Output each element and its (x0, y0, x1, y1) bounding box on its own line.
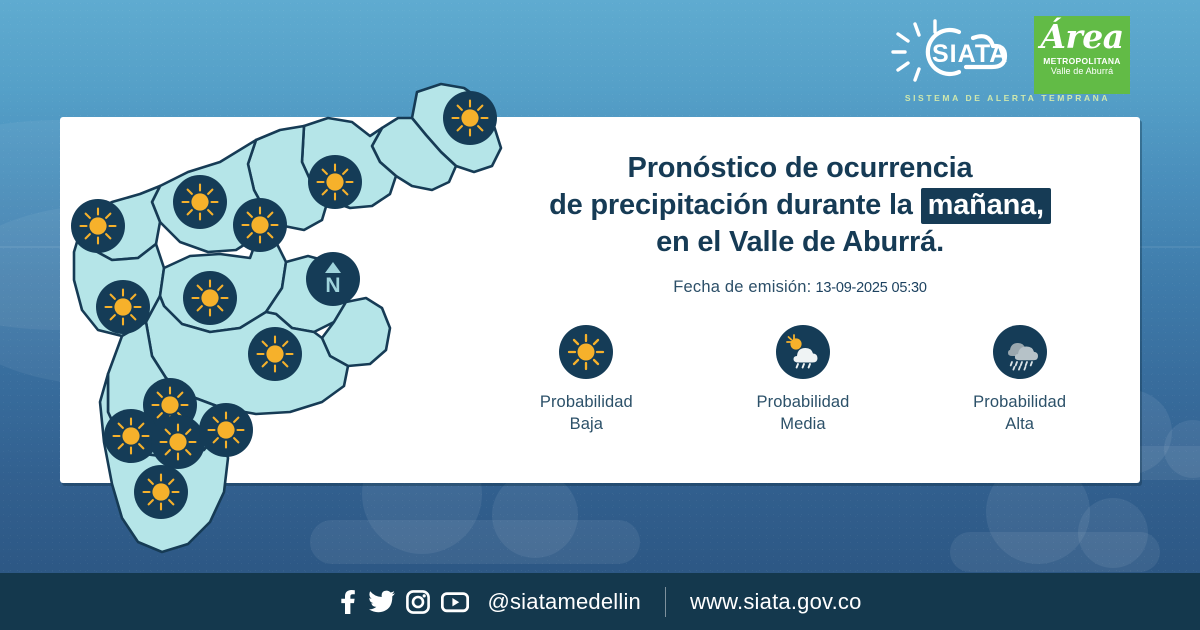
sun-disc (217, 421, 234, 438)
map-marker-sun-icon (233, 198, 287, 252)
legend-alta-line2: Alta (1005, 415, 1034, 433)
sun-disc (461, 109, 478, 126)
social-handle[interactable]: @siatamedellin (487, 589, 641, 615)
legend-label-alta: Probabilidad Alta (973, 391, 1066, 436)
legend-item-media: Probabilidad Media (708, 325, 898, 436)
sun-disc (201, 289, 218, 306)
siata-tagline: SISTEMA DE ALERTA TEMPRANA (885, 93, 1130, 103)
area-logo-script: Área (1040, 20, 1123, 55)
sun-cloud-rain-icon (776, 325, 830, 379)
headline-line-1: Pronóstico de ocurrencia (628, 152, 973, 184)
map-marker-sun-icon (443, 91, 497, 145)
website-url[interactable]: www.siata.gov.co (690, 589, 862, 615)
cloud-heavy-rain-icon (993, 325, 1047, 379)
area-logo-sub1: METROPOLITANA (1043, 56, 1120, 66)
footer-divider (665, 587, 666, 617)
logo-bar: SIATA Área METROPOLITANA Valle de Aburrá (885, 16, 1130, 94)
map-marker-sun-icon (183, 271, 237, 325)
page-title: Pronóstico de ocurrencia de precipitació… (470, 150, 1130, 261)
map-marker-sun-icon (96, 280, 150, 334)
youtube-icon[interactable] (441, 591, 469, 613)
compass-badge: N (306, 252, 360, 306)
svg-text:SIATA: SIATA (932, 40, 1008, 68)
footer-bar: @siatamedellin www.siata.gov.co (0, 573, 1200, 630)
headline-line-3: en el Valle de Aburrá. (656, 226, 944, 258)
map-marker-sun-icon (199, 403, 253, 457)
legend-label-baja: Probabilidad Baja (540, 391, 633, 436)
sun-icon (559, 325, 613, 379)
sun-disc (251, 216, 268, 233)
map-marker-sun-icon (151, 415, 205, 469)
probability-legend: Probabilidad Baja (478, 325, 1128, 436)
headline-highlight: mañana, (921, 188, 1051, 224)
map-marker-sun-icon (104, 409, 158, 463)
forecast-poster: SIATA Área METROPOLITANA Valle de Aburrá… (0, 0, 1200, 630)
legend-item-baja: Probabilidad Baja (491, 325, 681, 436)
sun-disc (326, 173, 343, 190)
headline-line-2-before: de precipitación durante la (549, 189, 913, 221)
emission-date: Fecha de emisión:13-09-2025 05:30 (470, 278, 1130, 297)
sun-disc (169, 433, 186, 450)
twitter-icon[interactable] (369, 590, 395, 614)
sun-disc (152, 483, 169, 500)
sun-disc (122, 427, 139, 444)
legend-baja-line1: Probabilidad (540, 393, 633, 411)
sun-disc (114, 298, 131, 315)
legend-baja-line2: Baja (570, 415, 603, 433)
area-logo-sub2: Valle de Aburrá (1051, 66, 1113, 76)
legend-media-line1: Probabilidad (757, 393, 850, 411)
sun-disc (89, 217, 106, 234)
map-marker-sun-icon (248, 327, 302, 381)
compass-label: N (325, 274, 340, 297)
map-marker-sun-icon (308, 155, 362, 209)
map-marker-sun-icon (173, 175, 227, 229)
emission-label: Fecha de emisión: (673, 278, 811, 296)
map-marker-sun-icon (71, 199, 125, 253)
facebook-icon[interactable] (338, 590, 358, 614)
valle-de-aburra-map: N (60, 30, 540, 575)
cloud-decoration (950, 532, 1160, 572)
sun-disc (266, 345, 283, 362)
siata-logo: SIATA (885, 16, 1020, 88)
emission-value: 13-09-2025 05:30 (815, 280, 926, 296)
legend-item-alta: Probabilidad Alta (925, 325, 1115, 436)
legend-media-line2: Media (780, 415, 825, 433)
area-metropolitana-logo: Área METROPOLITANA Valle de Aburrá (1034, 16, 1130, 94)
instagram-icon[interactable] (406, 590, 430, 614)
social-icons (338, 590, 469, 614)
map-marker-sun-icon (134, 465, 188, 519)
legend-label-media: Probabilidad Media (757, 391, 850, 436)
legend-alta-line1: Probabilidad (973, 393, 1066, 411)
sun-disc (161, 396, 178, 413)
sun-disc (191, 193, 208, 210)
headline-block: Pronóstico de ocurrencia de precipitació… (470, 150, 1130, 297)
